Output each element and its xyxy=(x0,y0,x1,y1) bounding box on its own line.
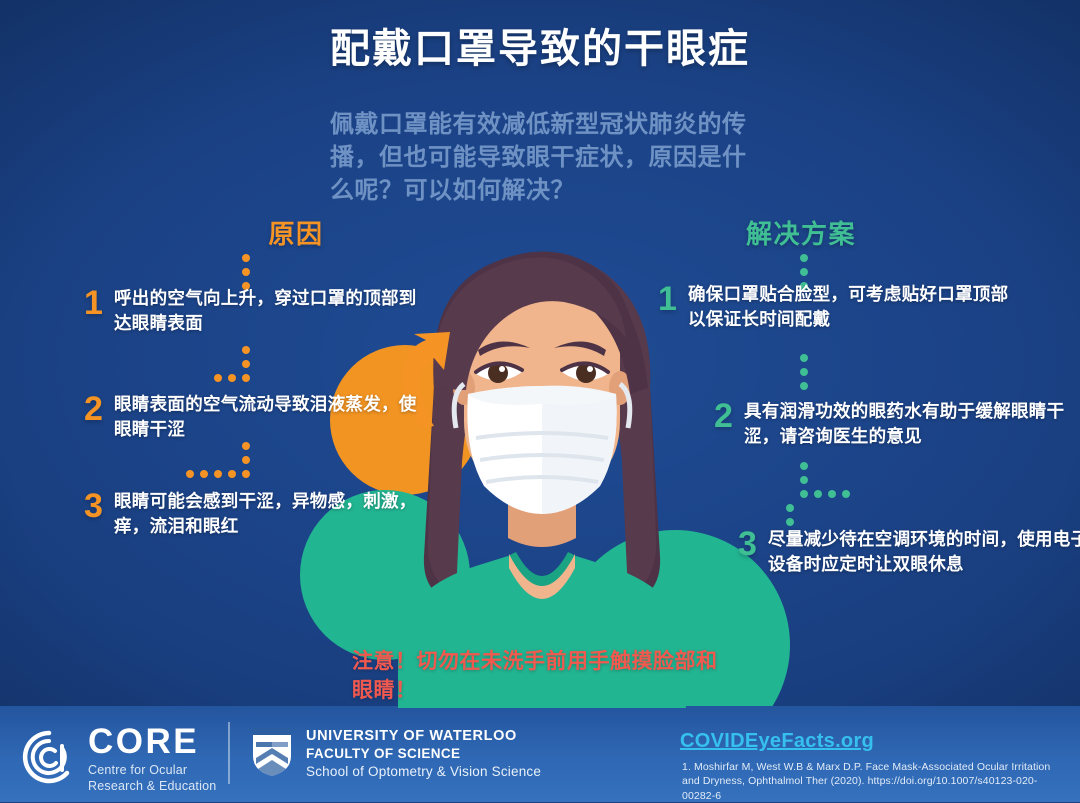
cause-item-2-number: 2 xyxy=(84,392,114,426)
core-logo: CORE Centre for Ocular Research & Educat… xyxy=(22,724,216,795)
connector-dot xyxy=(186,470,194,478)
connector-dot xyxy=(214,470,222,478)
site-link[interactable]: COVIDEyeFacts.org xyxy=(680,730,874,753)
waterloo-shield-icon xyxy=(250,726,294,783)
connector-dot xyxy=(242,360,250,368)
face-mask-shade xyxy=(542,386,617,514)
page-title: 配戴口罩导致的干眼症 xyxy=(0,16,1080,74)
cause-item-2-text: 眼睛表面的空气流动导致泪液蒸发，使眼睛干涩 xyxy=(114,392,424,442)
eye-highlight-left xyxy=(499,366,505,372)
core-tagline-line2: Research & Education xyxy=(88,779,216,795)
connector-dot xyxy=(214,374,222,382)
connector-dot xyxy=(800,354,808,362)
connector-dot xyxy=(242,456,250,464)
core-logo-text: CORE Centre for Ocular Research & Educat… xyxy=(88,724,216,795)
connector-dot xyxy=(242,470,250,478)
solutions-heading: 解决方案 xyxy=(658,214,1058,251)
waterloo-university-name: UNIVERSITY OF WATERLOO xyxy=(306,728,541,746)
connector-dot xyxy=(242,346,250,354)
connector-dot xyxy=(800,368,808,376)
warning-text: 注意！切勿在未洗手前用手触摸脸部和眼睛！ xyxy=(352,647,732,706)
solutions-column: 解决方案 1 确保口罩贴合脸型，可考虑贴好口罩顶部以保证长时间配戴 2 具有润滑… xyxy=(658,214,1058,251)
connector-dot xyxy=(842,490,850,498)
connector-dot xyxy=(200,470,208,478)
waterloo-logo-text: UNIVERSITY OF WATERLOO FACULTY OF SCIENC… xyxy=(306,728,541,781)
connector-dot xyxy=(828,490,836,498)
connector-dot xyxy=(800,254,808,262)
connector-dot xyxy=(800,476,808,484)
core-mark-icon xyxy=(22,730,76,789)
connector-dot xyxy=(786,504,794,512)
cause-item-1-number: 1 xyxy=(84,286,114,320)
connector-dot xyxy=(228,374,236,382)
causes-heading: 原因 xyxy=(46,214,406,251)
solution-item-3-text: 尽量减少待在空调环境的时间，使用电子设备时应定时让双眼休息 xyxy=(768,527,1080,577)
solution-item-2: 2 具有润滑功效的眼药水有助于缓解眼睛干涩，请咨询医生的意见 xyxy=(714,399,1079,449)
connector-dot xyxy=(800,490,808,498)
cause-item-1: 1 呼出的空气向上升，穿过口罩的顶部到达眼睛表面 xyxy=(84,286,424,336)
connector-dot xyxy=(242,268,250,276)
core-wordmark: CORE xyxy=(88,724,216,759)
connector-dot xyxy=(228,470,236,478)
connector-dot xyxy=(800,462,808,470)
connector-dot xyxy=(800,382,808,390)
solution-item-2-number: 2 xyxy=(714,399,744,433)
solution-item-1: 1 确保口罩贴合脸型，可考虑贴好口罩顶部以保证长时间配戴 xyxy=(658,282,1023,332)
core-tagline: Centre for Ocular Research & Education xyxy=(88,763,216,795)
waterloo-faculty-name: FACULTY OF SCIENCE xyxy=(306,746,541,762)
footer-divider xyxy=(228,722,230,784)
causes-column: 原因 1 呼出的空气向上升，穿过口罩的顶部到达眼睛表面 2 眼睛表面的空气流动导… xyxy=(46,214,406,251)
connector-dot xyxy=(242,442,250,450)
eye-highlight-right xyxy=(587,366,593,372)
waterloo-school-name: School of Optometry & Vision Science xyxy=(306,763,541,781)
cause-item-1-text: 呼出的空气向上升，穿过口罩的顶部到达眼睛表面 xyxy=(114,286,424,336)
connector-dot xyxy=(814,490,822,498)
core-tagline-line1: Centre for Ocular xyxy=(88,763,216,779)
connector-dot xyxy=(786,518,794,526)
solution-item-1-number: 1 xyxy=(658,282,688,316)
cause-item-3-text: 眼睛可能会感到干涩，异物感，刺激，痒，流泪和眼红 xyxy=(114,489,424,539)
solution-item-1-text: 确保口罩贴合脸型，可考虑贴好口罩顶部以保证长时间配戴 xyxy=(688,282,1023,332)
connector-dot xyxy=(800,268,808,276)
solution-item-2-text: 具有润滑功效的眼药水有助于缓解眼睛干涩，请咨询医生的意见 xyxy=(744,399,1079,449)
solution-item-3: 3 尽量减少待在空调环境的时间，使用电子设备时应定时让双眼休息 xyxy=(738,527,1080,577)
cause-item-3-number: 3 xyxy=(84,489,114,523)
citation-text: 1. Moshirfar M, West W.B & Marx D.P. Fac… xyxy=(682,760,1054,803)
cause-item-3: 3 眼睛可能会感到干涩，异物感，刺激，痒，流泪和眼红 xyxy=(84,489,424,539)
subtitle: 佩戴口罩能有效减低新型冠状肺炎的传播，但也可能导致眼干症状，原因是什么呢？可以如… xyxy=(330,108,770,207)
solution-item-3-number: 3 xyxy=(738,527,768,561)
waterloo-logo: UNIVERSITY OF WATERLOO FACULTY OF SCIENC… xyxy=(250,726,541,783)
connector-dot xyxy=(242,254,250,262)
cause-item-2: 2 眼睛表面的空气流动导致泪液蒸发，使眼睛干涩 xyxy=(84,392,424,442)
connector-dot xyxy=(242,374,250,382)
